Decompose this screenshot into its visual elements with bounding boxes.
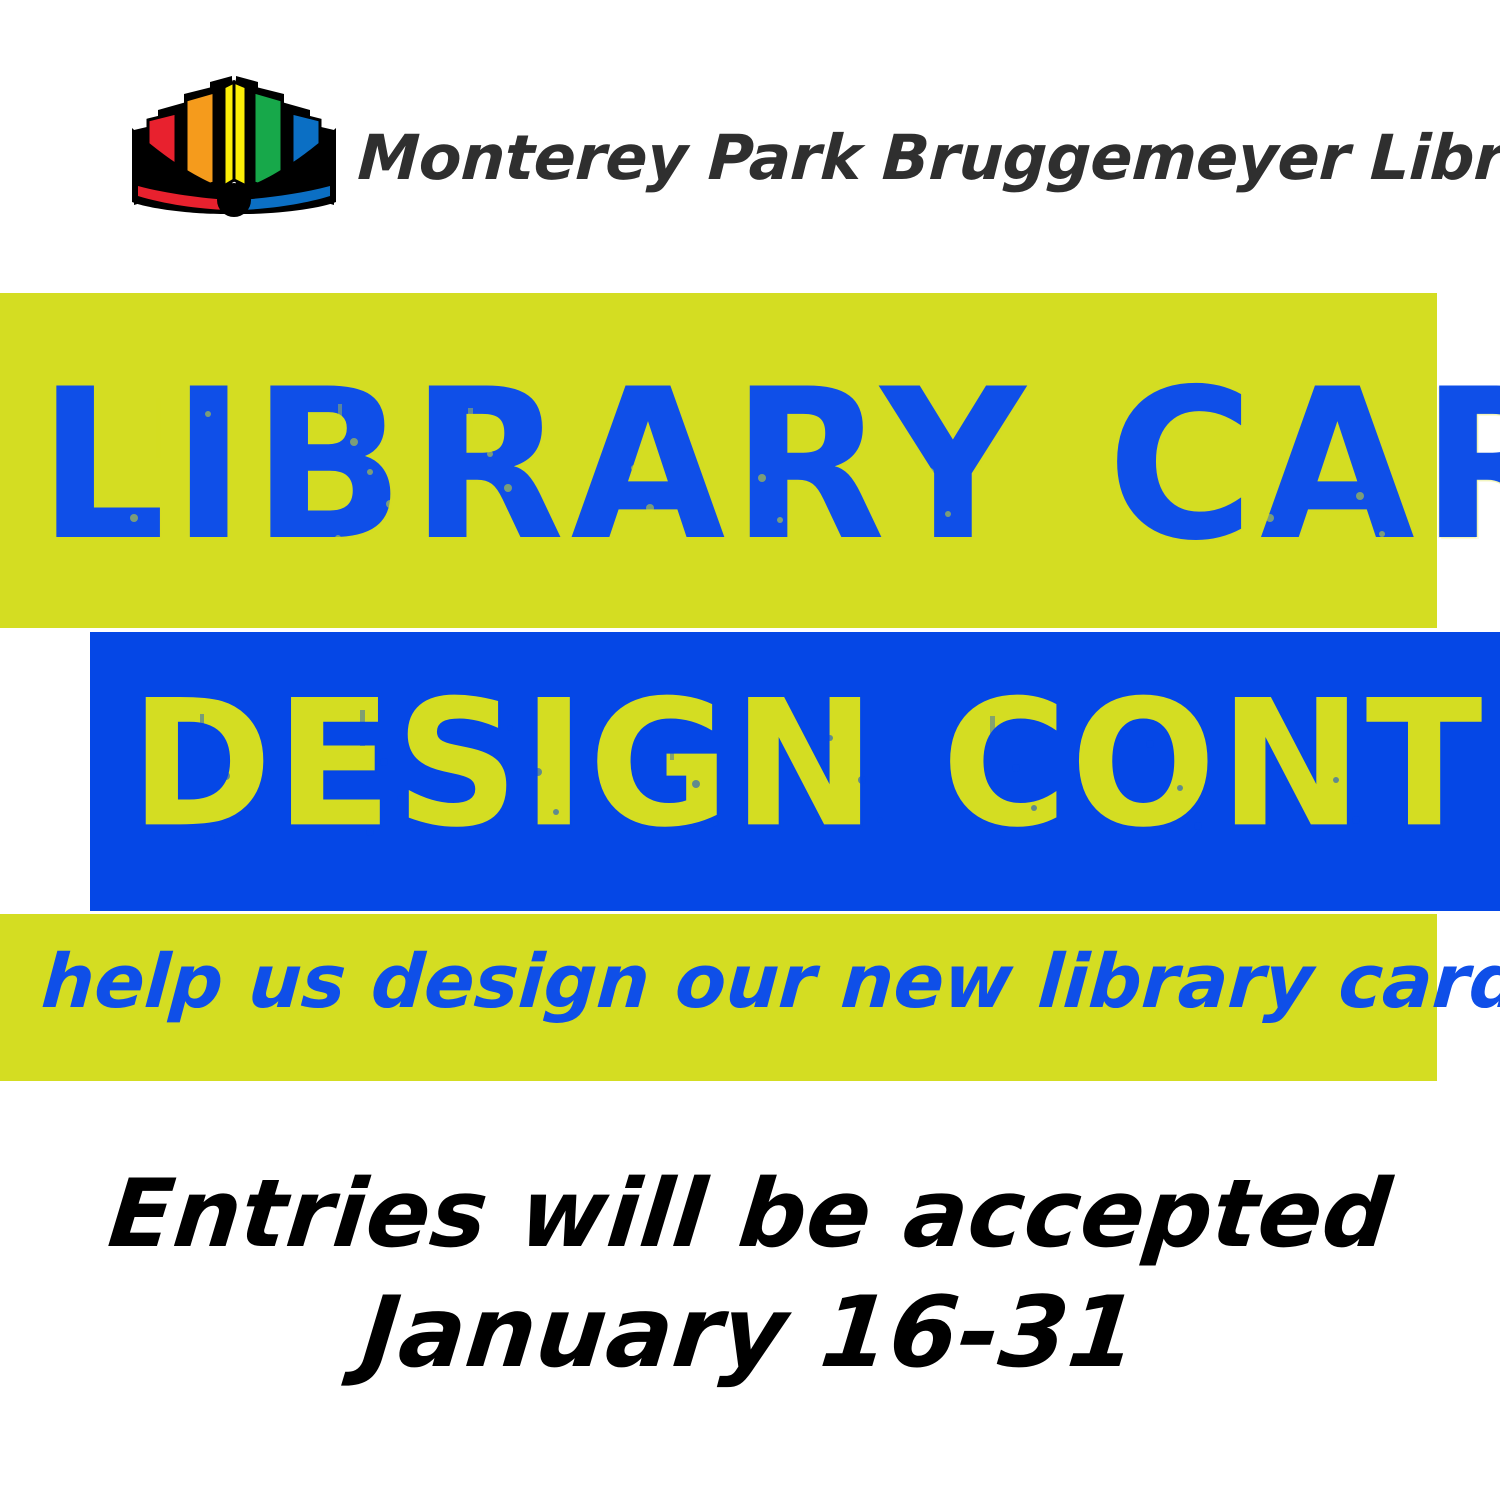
organization-name: Monterey Park Bruggemeyer Library (355, 108, 1430, 206)
open-book-logo-icon (132, 76, 336, 217)
poster-footer: Entries will be accepted January 16-31 (0, 1160, 1500, 1393)
library-logo (128, 68, 340, 218)
poster-header: Monterey Park Bruggemeyer Library (0, 0, 1500, 280)
poster-canvas: Monterey Park Bruggemeyer Library Librar… (0, 0, 1500, 1500)
headline-library-card: Library Card (38, 362, 1500, 570)
headline-design-contest: Design Contest (130, 677, 1500, 852)
tagline-text: help us design our new library cards! (39, 944, 1404, 1022)
footer-entries-line: Entries will be accepted (0, 1160, 1500, 1271)
footer-dates-line: January 16-31 (0, 1275, 1500, 1393)
